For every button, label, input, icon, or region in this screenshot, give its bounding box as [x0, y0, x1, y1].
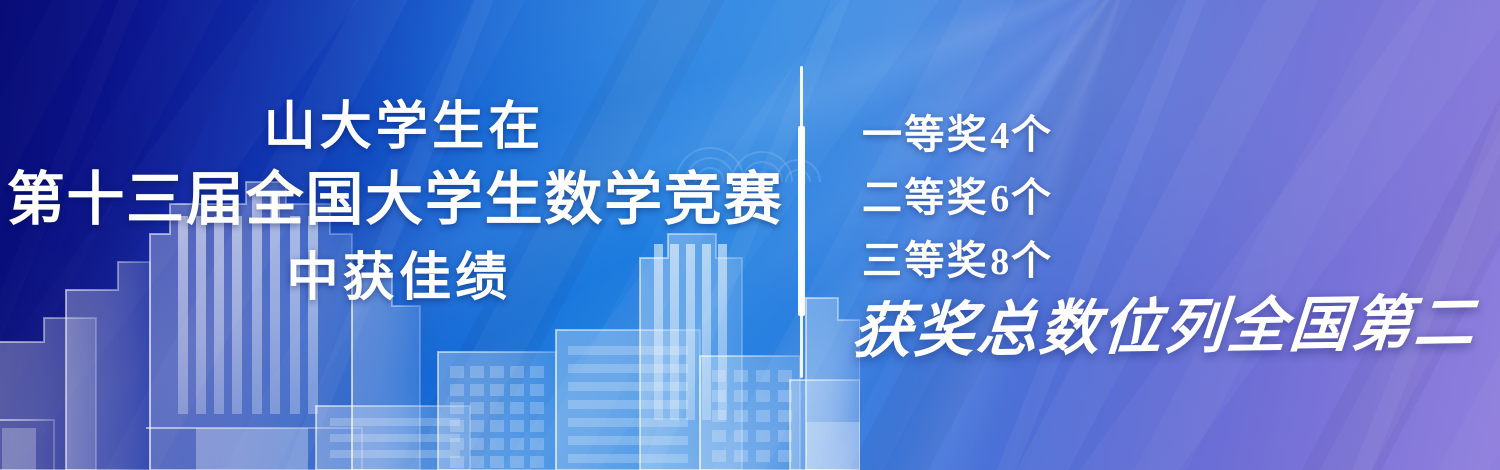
award-count-value: 6: [989, 178, 1011, 220]
award-rank-label: 三等奖: [862, 238, 989, 283]
divider-thick-segment: [798, 126, 805, 316]
award-unit-label: 个: [1011, 112, 1053, 157]
award-rank-label: 一等奖: [862, 112, 989, 157]
award-list: 一等奖4个 二等奖6个 三等奖8个: [862, 104, 1053, 293]
headline-block: 山大学生在 第十三届全国大学生数学竞赛 中获佳绩: [0, 96, 790, 318]
headline-line-2: 第十三届全国大学生数学竞赛: [0, 160, 790, 240]
award-banner: 山大学生在 第十三届全国大学生数学竞赛 中获佳绩 一等奖4个 二等奖6个 三等奖…: [0, 0, 1500, 470]
award-row: 一等奖4个: [862, 104, 1053, 167]
headline-line-3: 中获佳绩: [0, 240, 790, 318]
award-row: 三等奖8个: [862, 230, 1053, 293]
headline-line-1: 山大学生在: [0, 96, 790, 160]
award-unit-label: 个: [1011, 238, 1053, 283]
award-row: 二等奖6个: [862, 167, 1053, 230]
award-count-value: 4: [989, 115, 1011, 157]
tagline-calligraphy: 获奖总数位列全国第二: [849, 287, 1475, 368]
award-count-value: 8: [989, 241, 1011, 283]
award-unit-label: 个: [1011, 175, 1053, 220]
vertical-divider: [799, 66, 803, 378]
award-rank-label: 二等奖: [862, 175, 989, 220]
